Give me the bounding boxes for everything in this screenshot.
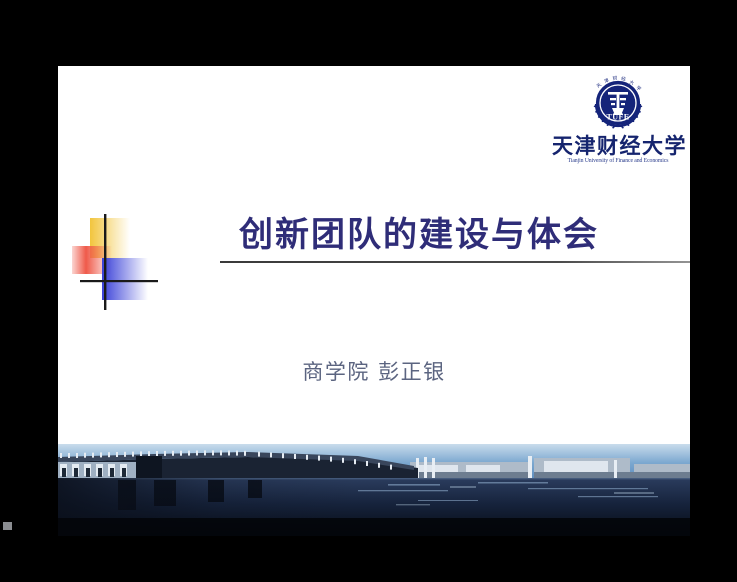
title-underline-rule (220, 261, 690, 263)
svg-text:经: 经 (621, 75, 627, 83)
svg-text:TUFE: TUFE (607, 113, 630, 122)
campus-waterfront-photo (58, 444, 690, 536)
presenter-subtitle: 商学院 彭正银 (58, 356, 690, 386)
university-logo: 天 津 财 经 大 学 TUFE 天津财经大学 Tianjin Universi… (552, 70, 684, 175)
slide-title: 创新团队的建设与体会 (138, 216, 678, 255)
svg-text:财: 财 (612, 74, 618, 82)
university-name-cn: 天津财经大学 (552, 135, 684, 157)
title-block: 创新团队的建设与体会 (138, 216, 678, 263)
presentation-slide: 天 津 财 经 大 学 TUFE 天津财经大学 Tianjin Universi… (58, 66, 690, 536)
university-emblem-icon: 天 津 财 经 大 学 TUFE (586, 70, 650, 134)
player-overlay-artifact (3, 522, 12, 530)
video-letterbox-frame: 天 津 财 经 大 学 TUFE 天津财经大学 Tianjin Universi… (0, 0, 737, 582)
university-name-en: Tianjin University of Finance and Econom… (555, 158, 682, 165)
